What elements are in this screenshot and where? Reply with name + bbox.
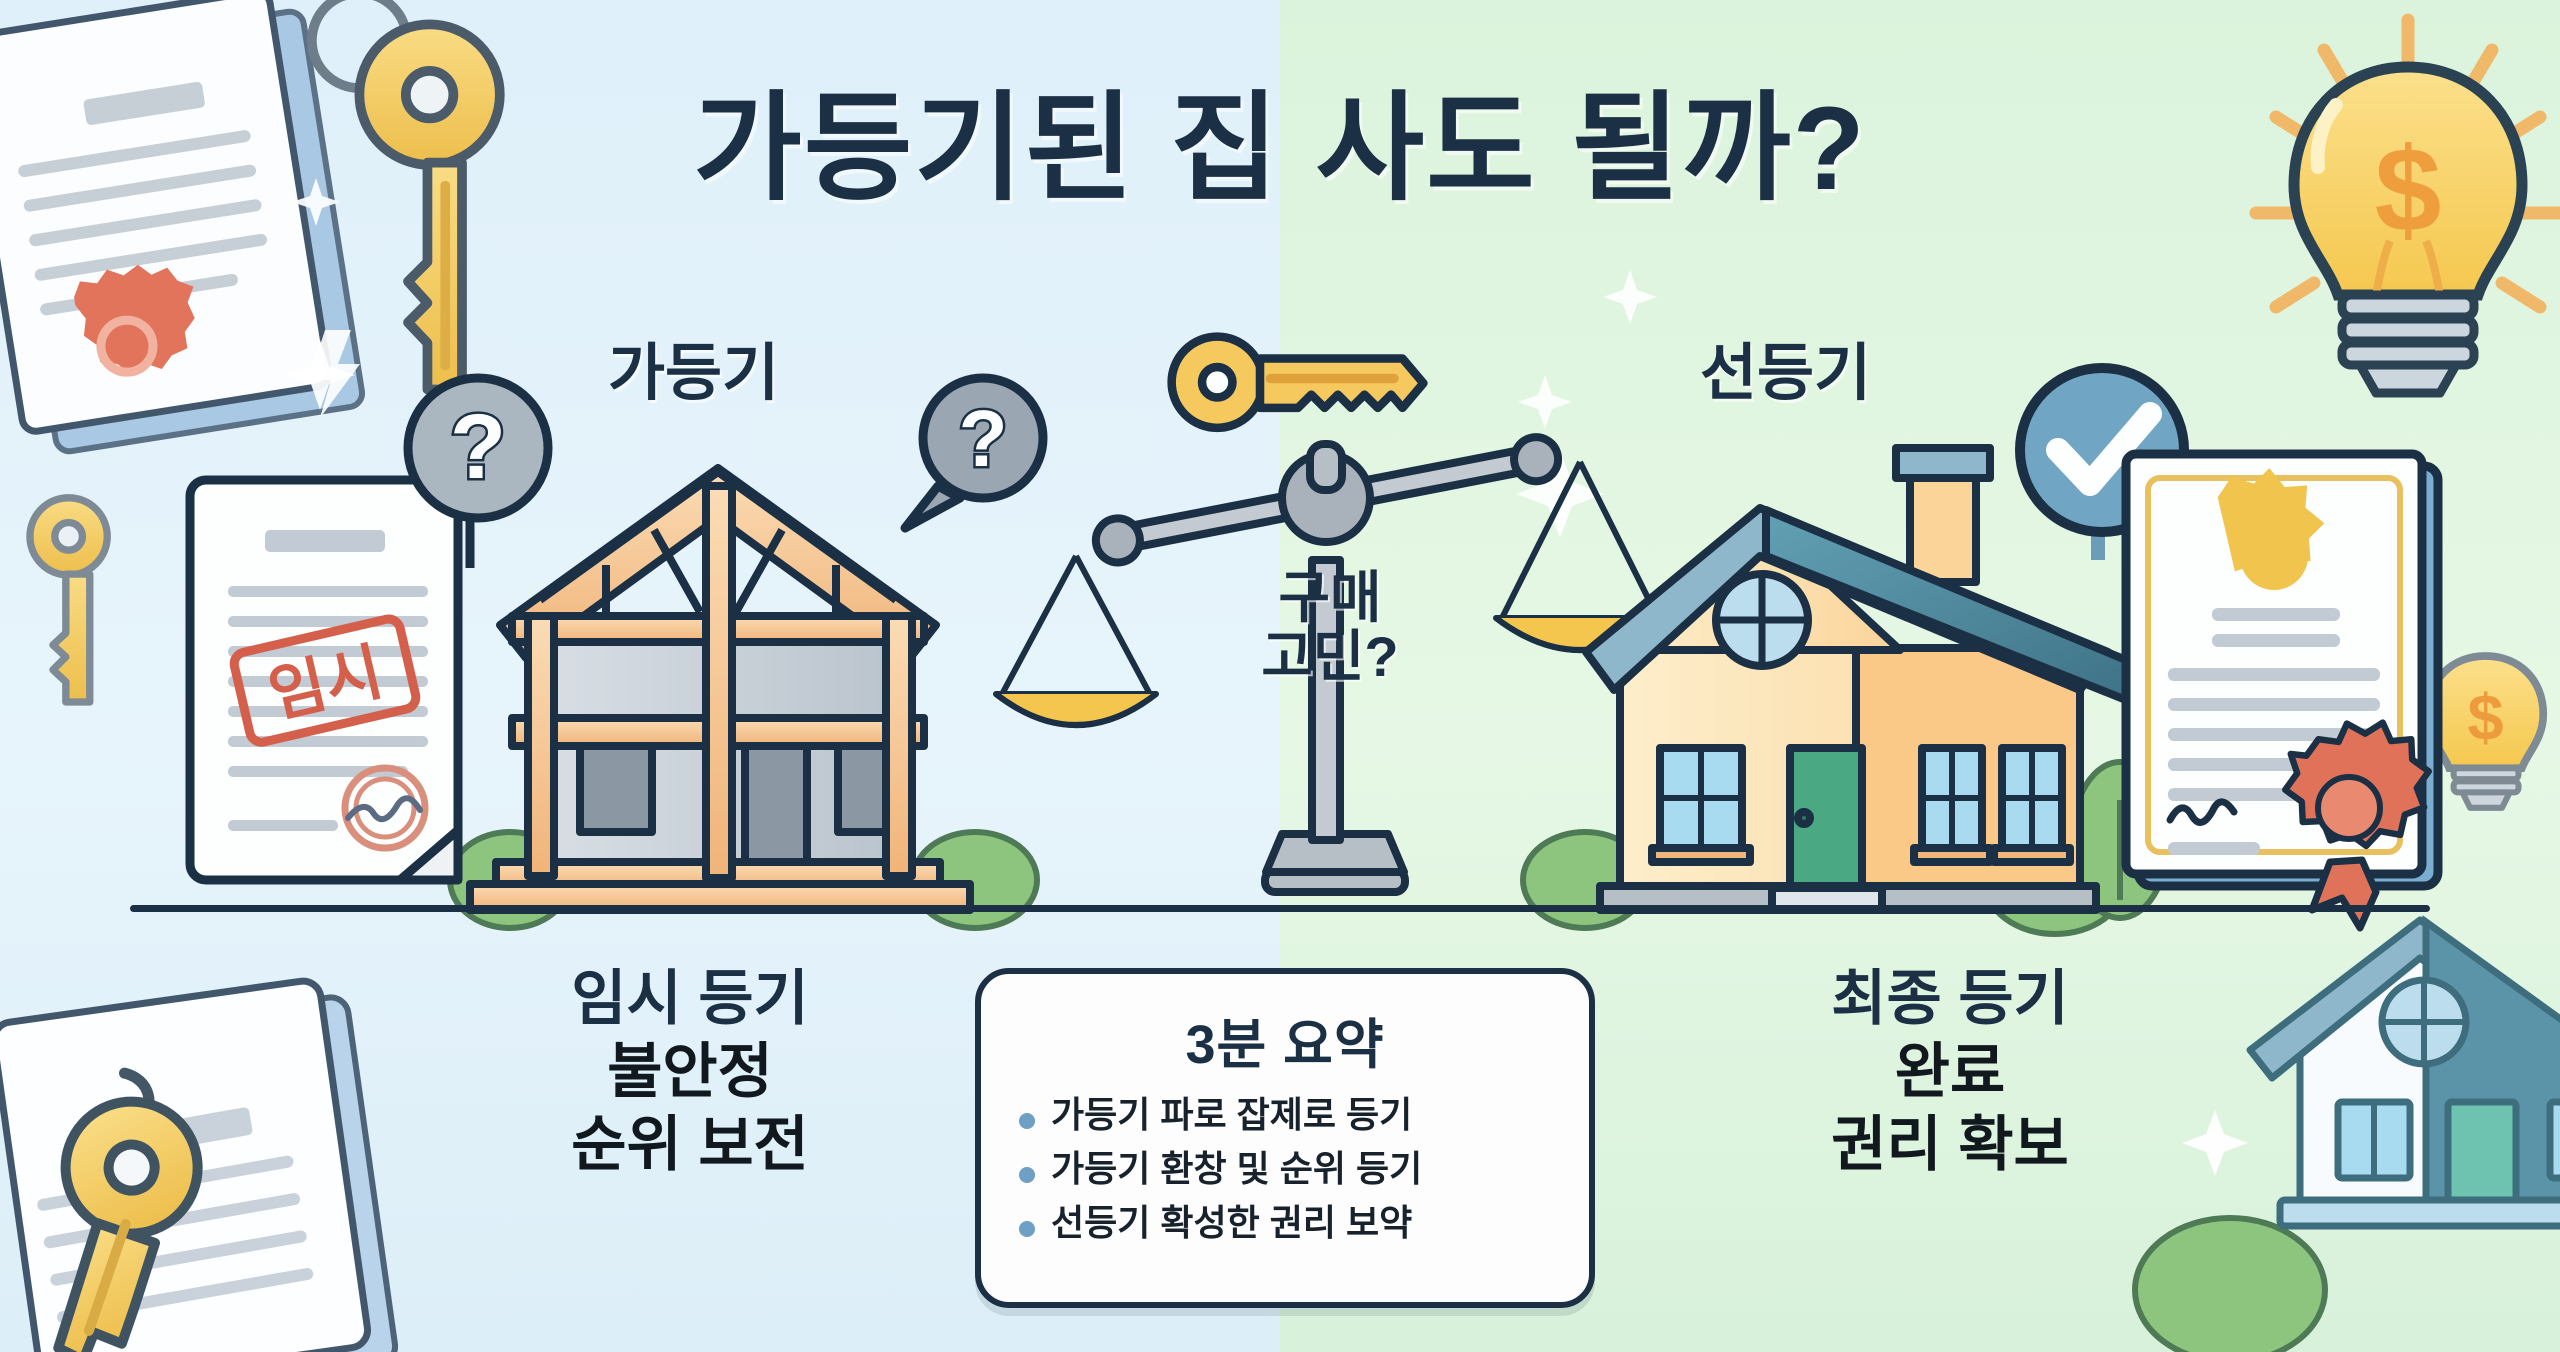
svg-text:?: ? <box>959 394 1008 483</box>
key-small-left-icon <box>30 498 107 702</box>
infographic-canvas: $ $ <box>0 0 2560 1352</box>
bullet-dot-icon <box>1019 1221 1035 1237</box>
right-bottom-text: 최종 등기 완료 권리 확보 <box>1690 962 2210 1182</box>
left-bottom-text: 임시 등기 불안정 순위 보전 <box>430 962 950 1182</box>
scale-caption: 구매 고민? <box>1205 568 1455 687</box>
right-bottom-line-1: 최종 등기 <box>1690 962 2210 1035</box>
question-bubble-left-2: ? <box>905 378 1043 528</box>
key-on-document-decor <box>0 975 397 1352</box>
left-bottom-line-2: 불안정 <box>430 1035 950 1108</box>
completed-house <box>1586 448 2126 910</box>
summary-bullet-2-text: 가등기 환창 및 순위 등기 <box>1051 1148 1422 1189</box>
bullet-dot-icon <box>1019 1113 1035 1129</box>
left-bottom-line-3: 순위 보전 <box>430 1108 950 1181</box>
summary-bullet-3: 선등기 확성한 권리 보약 <box>1011 1197 1567 1248</box>
right-bottom-line-2: 완료 <box>1690 1035 2210 1108</box>
summary-bullet-2: 가등기 환창 및 순위 등기 <box>1011 1143 1567 1194</box>
summary-card: 3분 요약 가등기 파로 잡제로 등기 가등기 환창 및 순위 등기 선등기 확… <box>975 968 1595 1308</box>
left-bottom-line-1: 임시 등기 <box>430 962 950 1035</box>
summary-bullet-3-text: 선등기 확성한 권리 보약 <box>1051 1202 1412 1243</box>
summary-heading: 3분 요약 <box>1003 1000 1567 1079</box>
left-section-label: 가등기 <box>608 322 779 412</box>
page-title: 가등기된 집 사도 될까? <box>0 52 2560 223</box>
summary-bullet-list: 가등기 파로 잡제로 등기 가등기 환창 및 순위 등기 선등기 확성한 권리 … <box>1003 1089 1567 1248</box>
ground-line <box>130 905 2430 912</box>
temporary-registration-document: 임시 <box>190 480 458 880</box>
summary-bullet-1-text: 가등기 파로 잡제로 등기 <box>1051 1094 1412 1135</box>
svg-text:?: ? <box>450 396 506 498</box>
unfinished-frame-house <box>470 468 970 910</box>
right-bottom-line-3: 권리 확보 <box>1690 1108 2210 1181</box>
scale-caption-line2: 고민? <box>1205 627 1455 686</box>
final-certificate <box>2126 454 2438 928</box>
summary-bullet-1: 가등기 파로 잡제로 등기 <box>1011 1089 1567 1140</box>
scale-caption-line1: 구매 <box>1205 568 1455 627</box>
floating-key-icon <box>1172 337 1424 428</box>
bullet-dot-icon <box>1019 1167 1035 1183</box>
lightbulb-small-dollar-icon: $ <box>2428 656 2544 808</box>
svg-text:$: $ <box>2467 681 2503 754</box>
right-section-label: 선등기 <box>1700 322 1871 412</box>
